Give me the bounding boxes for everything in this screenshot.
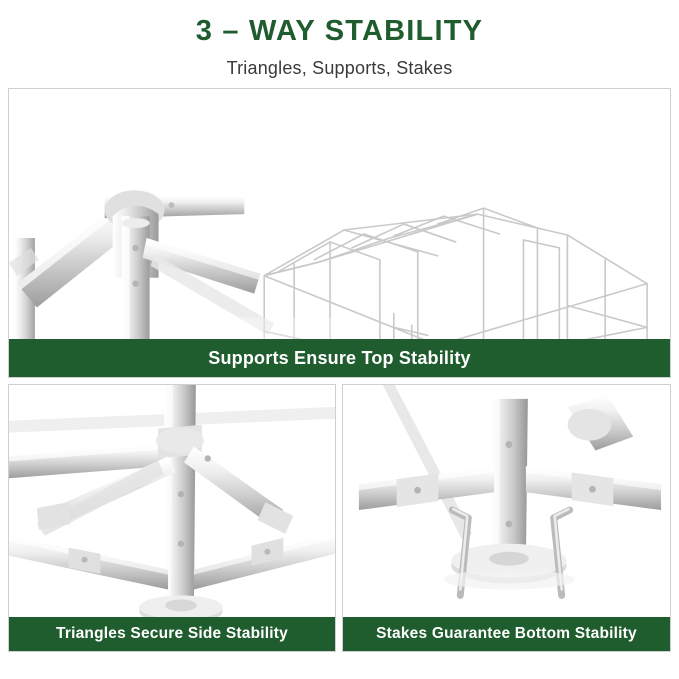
triangle-brace-illustration xyxy=(9,385,335,651)
ground-stake-illustration xyxy=(343,385,670,651)
product-infographic: 3 – WAY STABILITY Triangles, Supports, S… xyxy=(0,0,679,679)
roof-connector-illustration xyxy=(9,89,670,377)
panel-grid: Supports Ensure Top Stability xyxy=(8,88,671,668)
panel-side-caption: Triangles Secure Side Stability xyxy=(9,617,335,651)
panel-bottom-photo xyxy=(343,385,670,651)
panel-top-photo xyxy=(9,89,670,377)
header: 3 – WAY STABILITY Triangles, Supports, S… xyxy=(0,0,679,79)
footer-spacer xyxy=(0,668,679,679)
page-subtitle: Triangles, Supports, Stakes xyxy=(0,58,679,79)
panel-bottom-stability: Stakes Guarantee Bottom Stability xyxy=(342,384,671,652)
panel-top-caption: Supports Ensure Top Stability xyxy=(9,339,670,377)
panel-top-stability: Supports Ensure Top Stability xyxy=(8,88,671,378)
panel-bottom-caption: Stakes Guarantee Bottom Stability xyxy=(343,617,670,651)
page-title: 3 – WAY STABILITY xyxy=(0,16,679,48)
panel-side-stability: Triangles Secure Side Stability xyxy=(8,384,336,652)
panel-side-photo xyxy=(9,385,335,651)
